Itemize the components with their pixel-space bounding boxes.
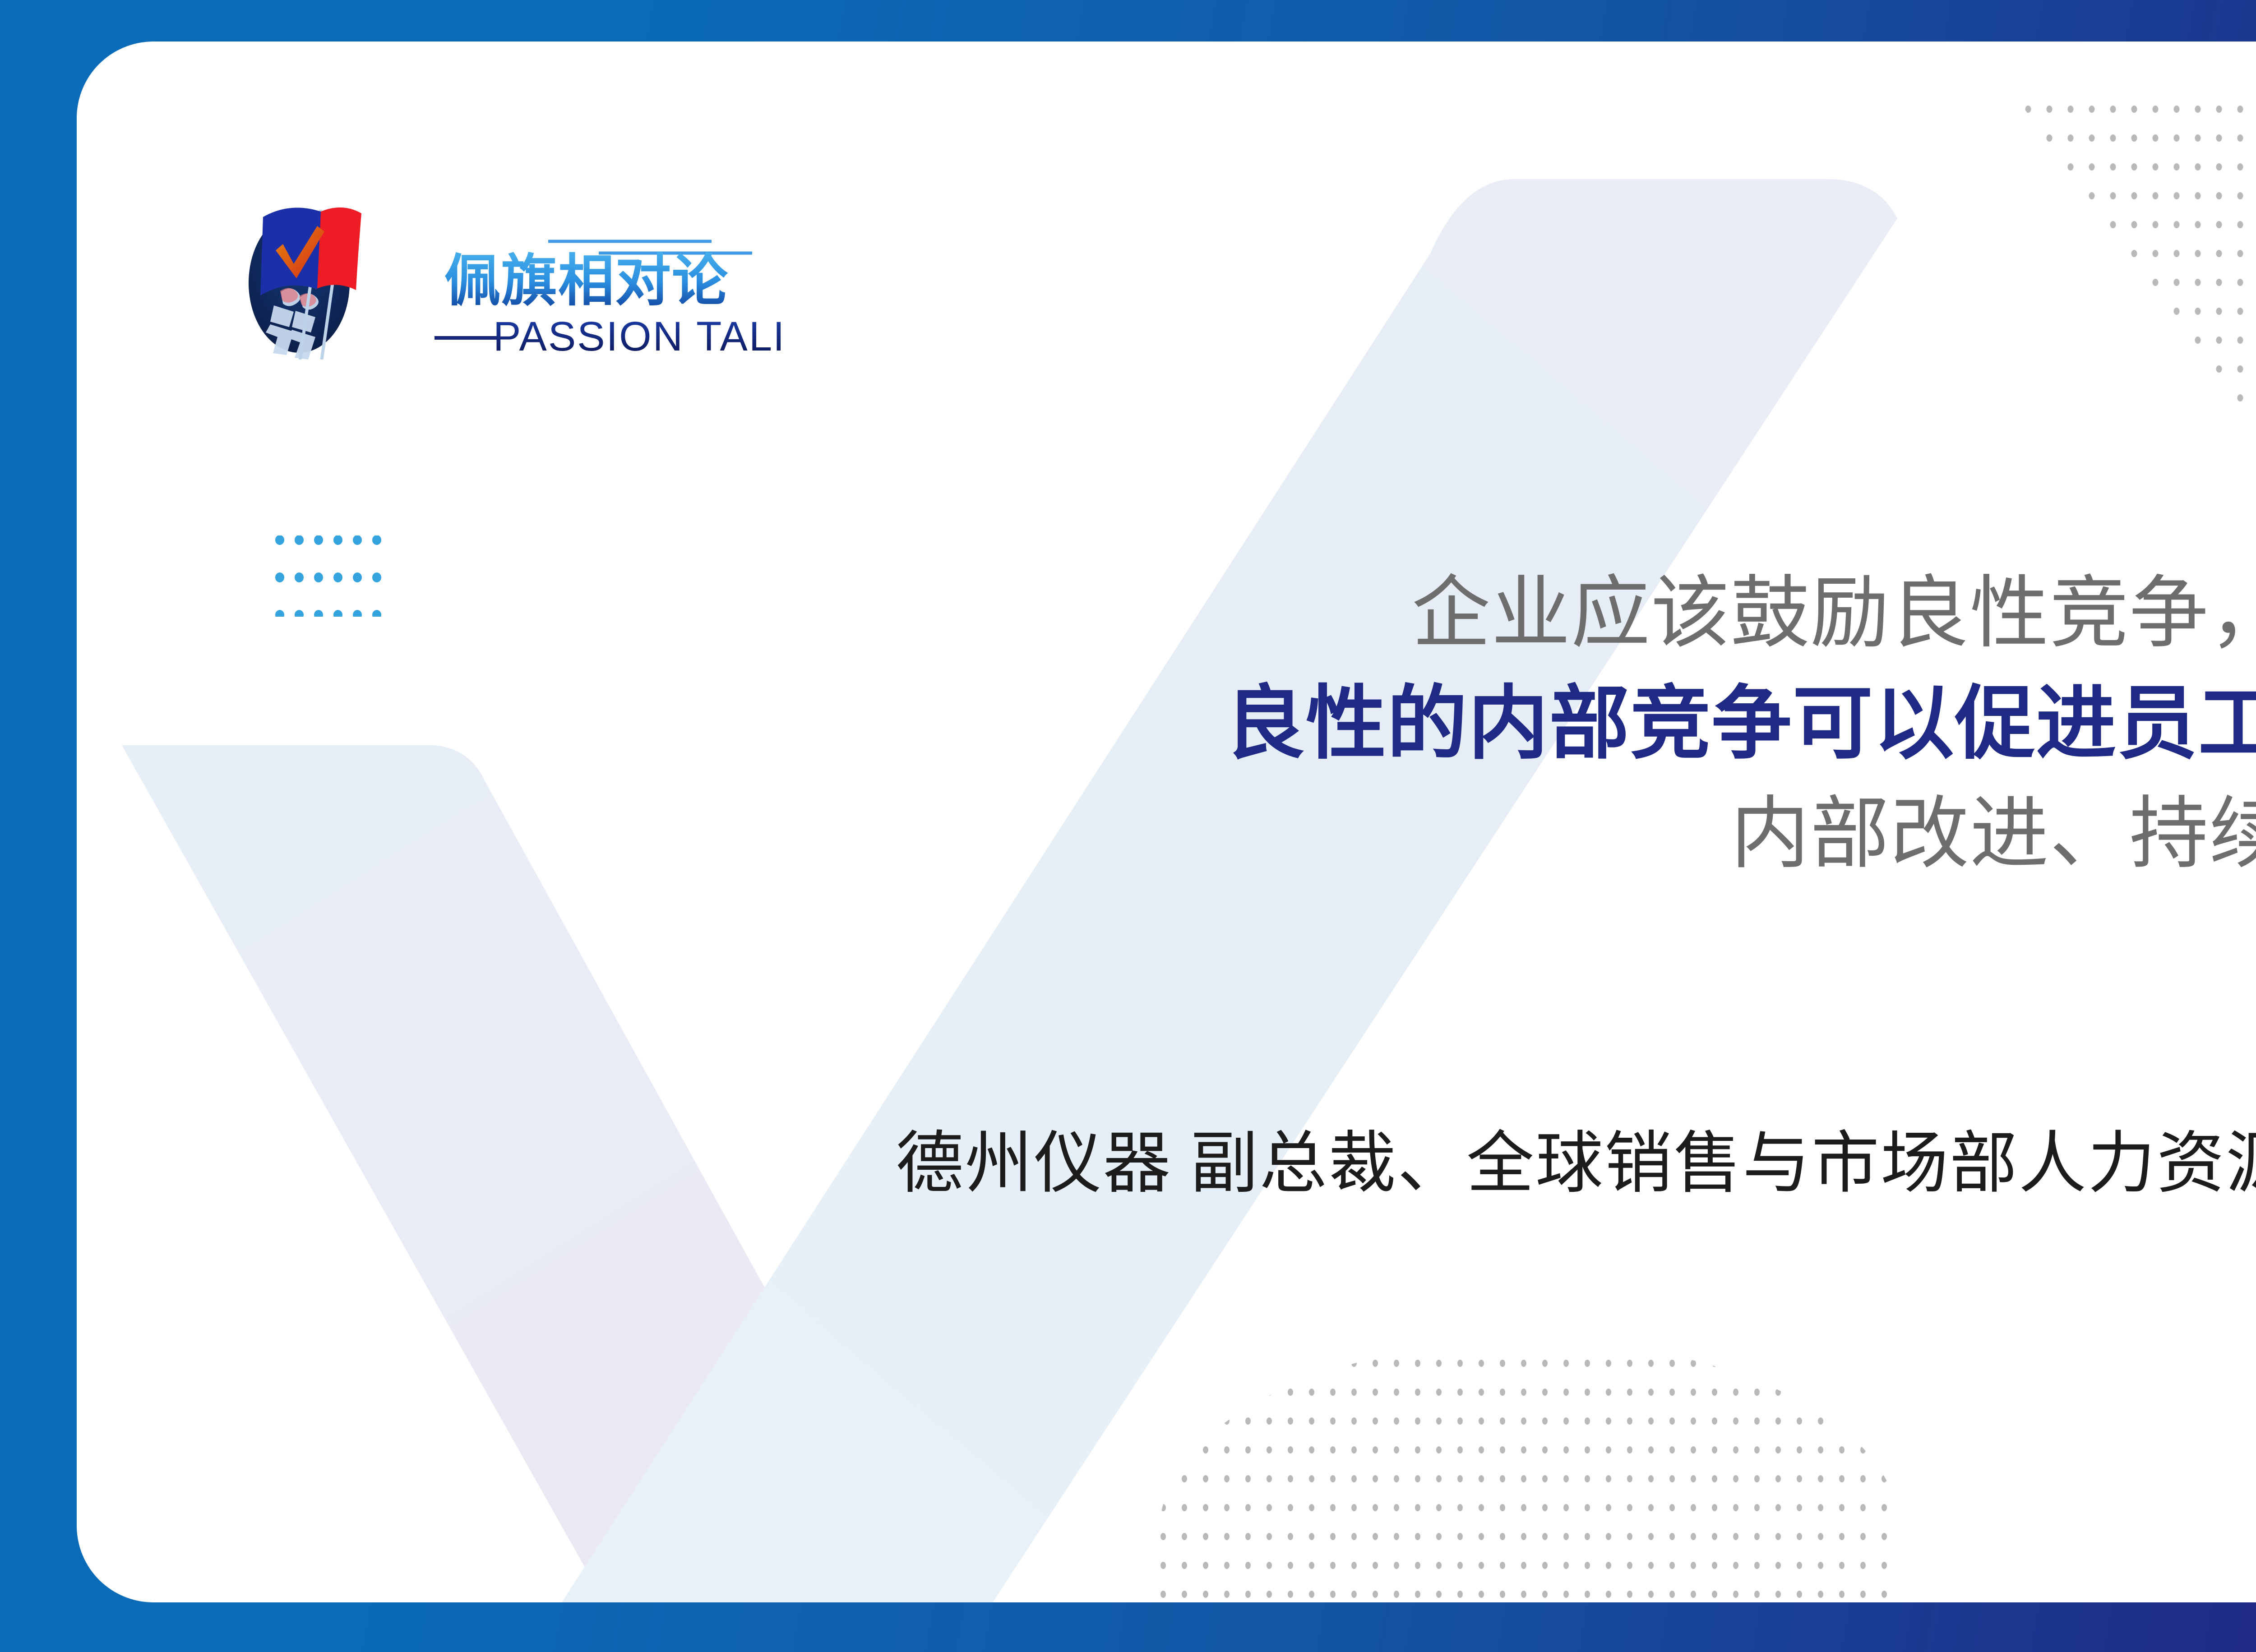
quote-line-2: 良性的内部竞争可以促进员工之间的持续激励 <box>77 667 2256 781</box>
brand-logo[interactable]: 佩旗相对论 PASSION TALK <box>232 170 781 360</box>
decorative-dots-bottom <box>1160 1359 2062 1602</box>
quote-block: 企业应该鼓励良性竞争，反对内卷、内耗 良性的内部竞争可以促进员工之间的持续激励 … <box>77 560 2256 887</box>
quote-line-3: 内部改进、持续提高的企业文化 <box>77 781 2256 887</box>
decorative-dots-top-right <box>2003 105 2256 434</box>
logo-brand-en: PASSION TALK <box>493 314 781 360</box>
flag-red-icon <box>315 208 361 290</box>
content-card: 佩旗相对论 PASSION TALK 企业应该鼓励良性竞争，反对内卷、内耗 良性… <box>77 42 2256 1602</box>
attribution-text: 德州仪器 副总裁、全球销售与市场部人力资源总监——祝薇女士 <box>77 1108 2256 1206</box>
slide-root: 佩旗相对论 PASSION TALK 企业应该鼓励良性竞争，反对内卷、内耗 良性… <box>0 0 2256 1652</box>
logo-brand-cn: 佩旗相对论 <box>444 250 729 312</box>
quote-line-1: 企业应该鼓励良性竞争，反对内卷、内耗 <box>77 560 2256 667</box>
